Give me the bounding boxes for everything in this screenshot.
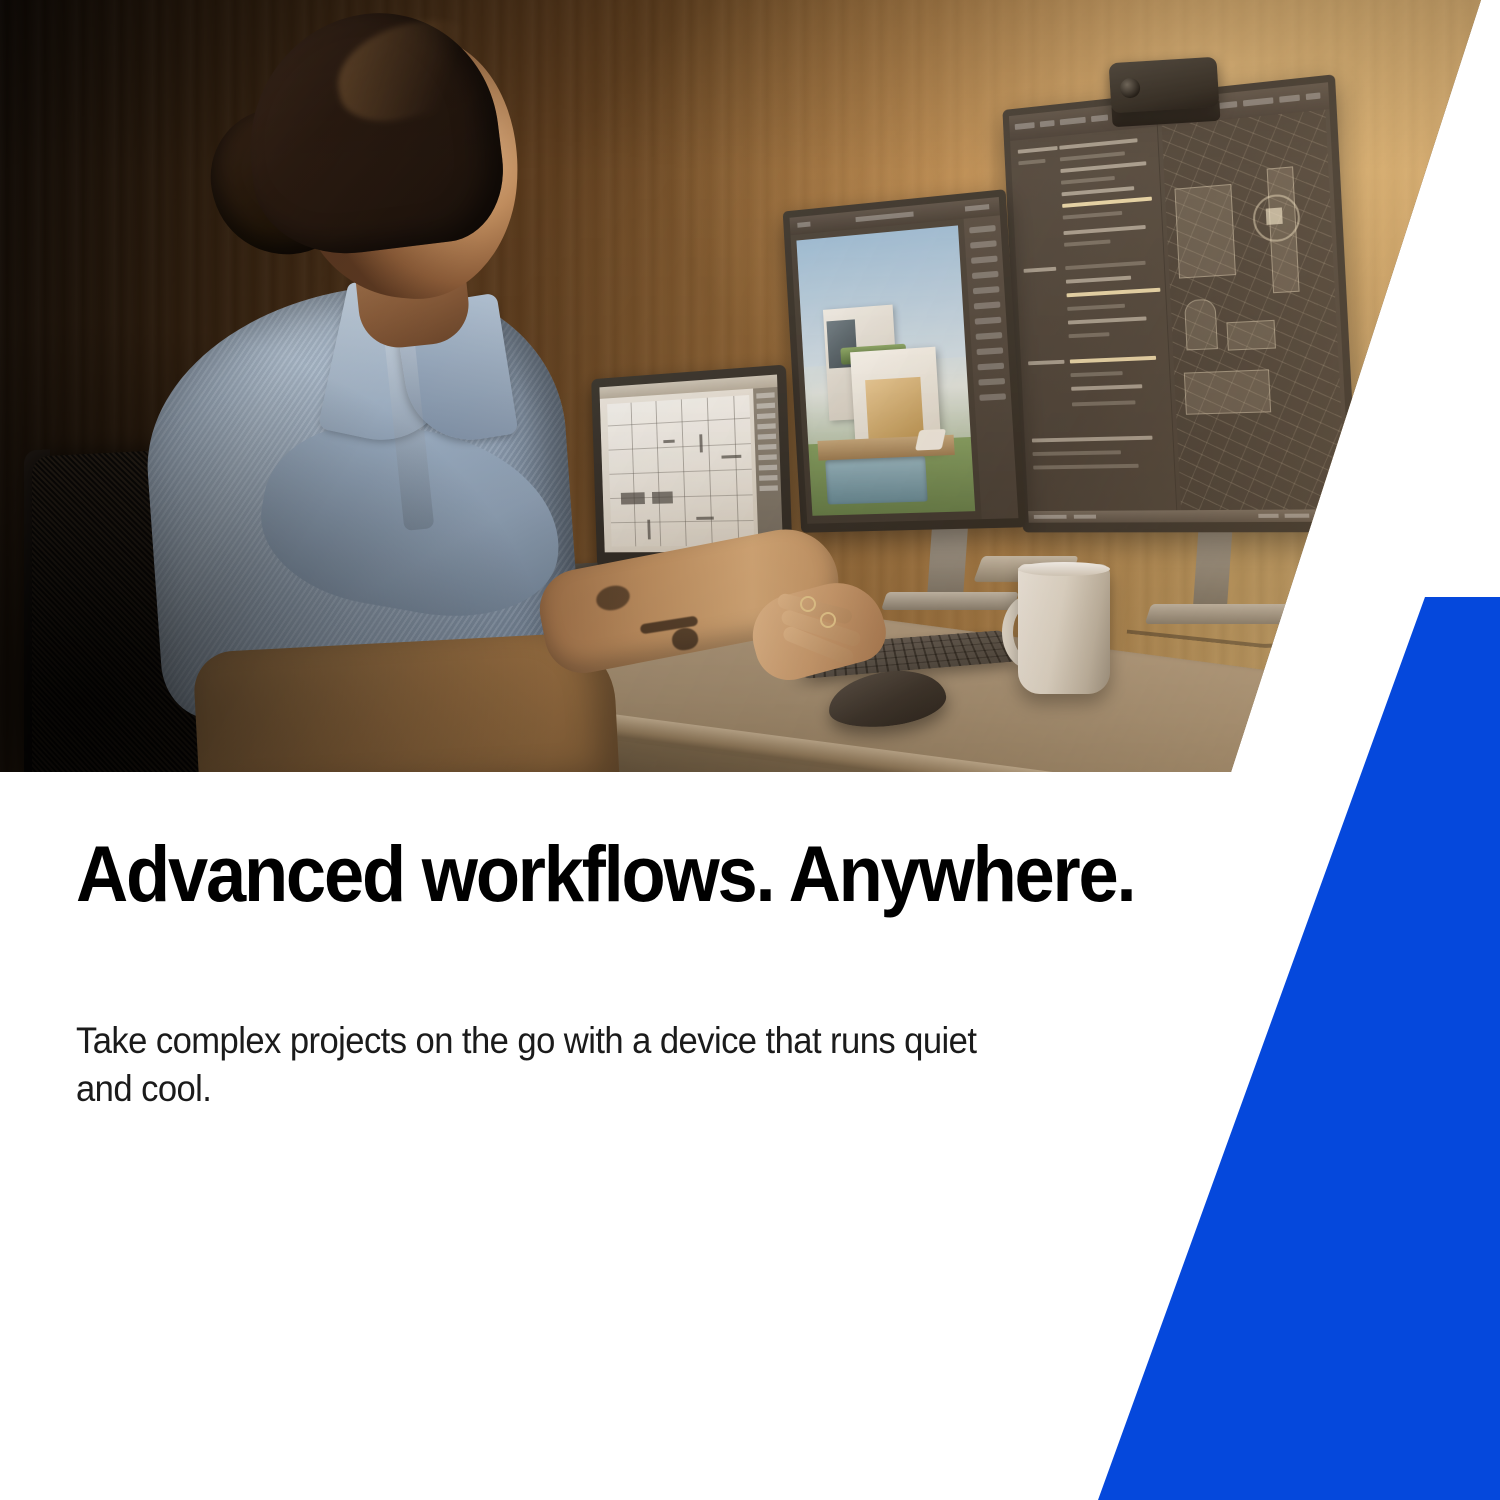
body-paragraph: Take complex projects on the go with a d… [76,913,1011,1113]
hero-photo [0,0,1500,772]
photo-color-grade [0,0,1500,772]
page-title: Advanced workflows. Anywhere. [76,772,991,913]
text-content: Advanced workflows. Anywhere. Take compl… [76,772,1076,1113]
